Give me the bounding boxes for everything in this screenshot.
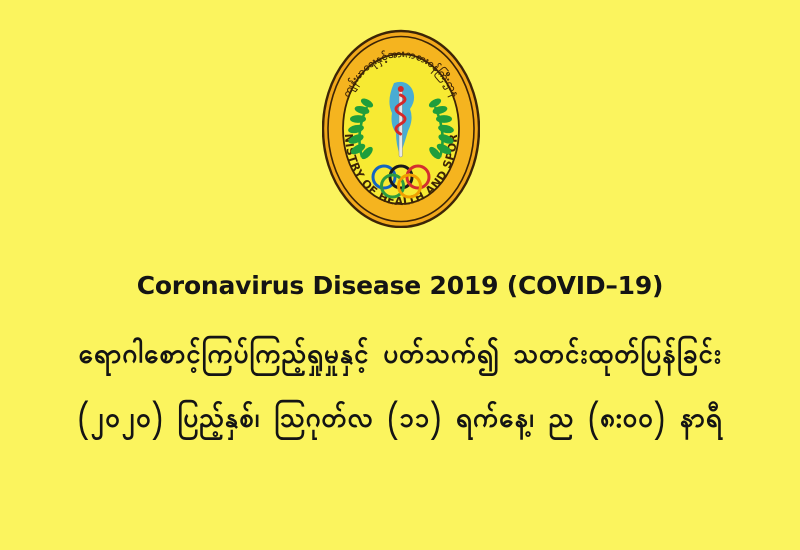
announcement-datetime-myanmar: (၂၀၂၀) ပြည့်နှစ်၊ သြဂုတ်လ (၁၁) ရက်နေ့၊ ည… [24, 394, 776, 448]
announcement-subtitle-myanmar: ရောဂါစောင့်ကြပ်ကြည့်ရှုမှုနှင့် ပတ်သက်၍ … [24, 330, 776, 384]
covid-announcement-poster: ကျန်းမာရေးနှင့်အားကစားဝန်ကြီးဌာန MINISTR… [0, 0, 800, 550]
announcement-text-block: Coronavirus Disease 2019 (COVID–19) ရောဂ… [0, 268, 800, 448]
page-title-english: Coronavirus Disease 2019 (COVID–19) [0, 268, 800, 304]
ministry-of-health-and-sports-logo: ကျန်းမာရေးနှင့်အားကစားဝန်ကြီးဌာန MINISTR… [322, 29, 480, 228]
